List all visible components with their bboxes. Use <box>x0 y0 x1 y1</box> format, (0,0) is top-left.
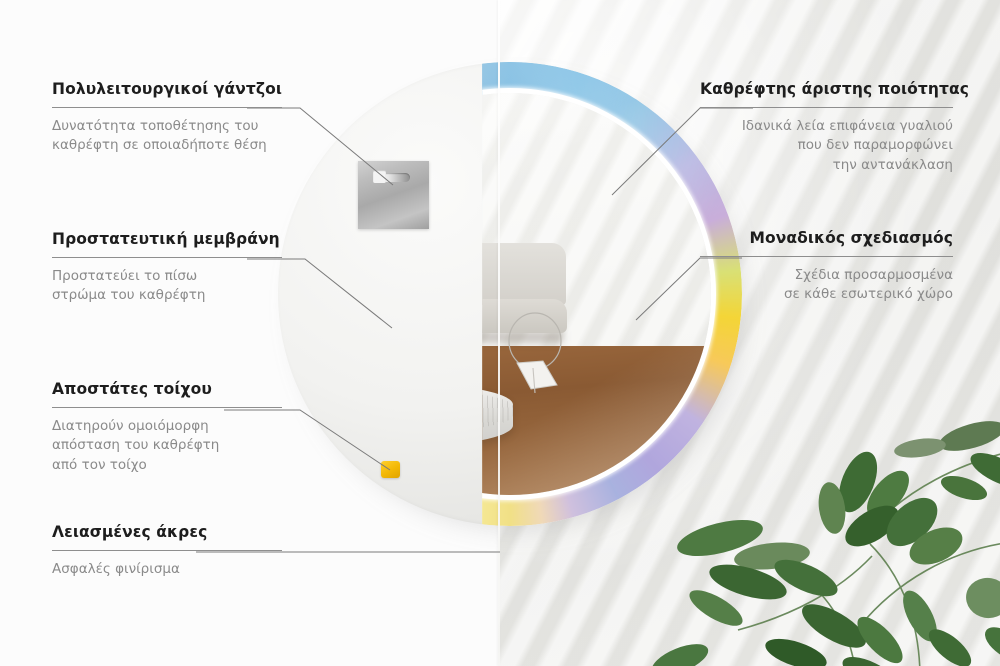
callout-rule <box>700 256 953 257</box>
callout-wall-spacers: Αποστάτες τοίχου Διατηρούν ομοιόμορφη απ… <box>52 380 282 475</box>
callout-description: Διατηρούν ομοιόμορφη απόσταση του καθρέφ… <box>52 417 282 476</box>
callout-smoothed-edges: Λειασμένες άκρες Ασφαλές φινίρισμα <box>52 523 282 579</box>
wall-spacer-pad <box>381 461 400 478</box>
callout-title: Λειασμένες άκρες <box>52 523 282 542</box>
callout-description: Προστατεύει το πίσω στρώμα του καθρέφτη <box>52 267 282 306</box>
callout-title: Αποστάτες τοίχου <box>52 380 282 399</box>
round-mirror-product <box>278 62 742 526</box>
callout-rule <box>52 407 282 408</box>
callout-protective-membrane: Προστατευτική μεμβράνη Προστατεύει το πί… <box>52 230 282 306</box>
callout-description: Ασφαλές φινίρισμα <box>52 560 282 580</box>
callout-description: Δυνατότητα τοποθέτησης του καθρέφτη σε ο… <box>52 117 282 156</box>
callout-title: Μοναδικός σχεδιασμός <box>700 229 953 248</box>
callout-unique-design: Μοναδικός σχεδιασμός Σχέδια προσαρμοσμέν… <box>700 229 953 305</box>
callout-multifunctional-hooks: Πολυλειτουργικοί γάντζοι Δυνατότητα τοπο… <box>52 80 282 156</box>
callout-rule <box>52 257 282 258</box>
callout-description: Ιδανικά λεία επιφάνεια γυαλιού που δεν π… <box>700 117 953 176</box>
callout-title: Καθρέφτης άριστης ποιότητας <box>700 80 953 99</box>
hanger-plate <box>358 161 429 229</box>
hanger-keyhole-head <box>373 170 386 183</box>
callout-rule <box>700 107 953 108</box>
callout-rule <box>52 107 282 108</box>
callout-title: Προστατευτική μεμβράνη <box>52 230 282 249</box>
infographic-canvas: Πολυλειτουργικοί γάντζοι Δυνατότητα τοπο… <box>0 0 1000 666</box>
callout-top-quality-mirror: Καθρέφτης άριστης ποιότητας Ιδανικά λεία… <box>700 80 953 175</box>
reflected-wire-chair <box>505 311 579 397</box>
callout-title: Πολυλειτουργικοί γάντζοι <box>52 80 282 99</box>
callout-rule <box>52 550 282 551</box>
callout-description: Σχέδια προσαρμοσμένα σε κάθε εσωτερικό χ… <box>700 266 953 305</box>
